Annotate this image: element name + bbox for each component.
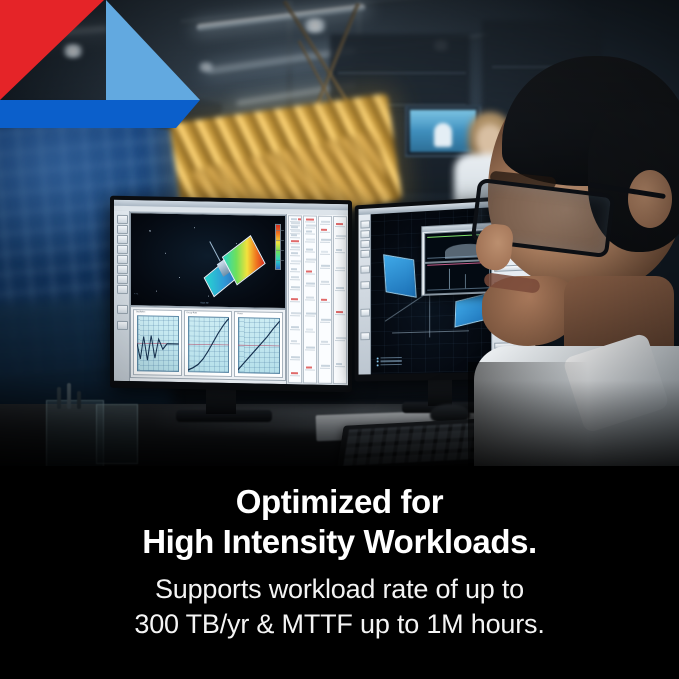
tool-button[interactable] (360, 250, 370, 258)
legend-item (377, 363, 402, 365)
table-row[interactable] (290, 260, 300, 264)
cell (321, 251, 328, 253)
pen (57, 387, 61, 409)
cell (306, 271, 312, 273)
cell (291, 341, 297, 343)
cell (321, 265, 330, 267)
headline-line-1: Optimized for (236, 483, 443, 520)
tool-button[interactable] (117, 245, 128, 254)
table-row[interactable] (335, 249, 345, 253)
data-column[interactable] (333, 216, 347, 384)
simulation-app-window[interactable]: View 3D XYZ Oscillation (114, 200, 348, 385)
data-column[interactable] (318, 216, 332, 384)
plot-series-oscillation (137, 315, 179, 372)
cell (306, 259, 316, 261)
table-row[interactable] (290, 326, 300, 330)
star-speck (156, 291, 157, 292)
legend-dot (377, 357, 379, 359)
tool-button[interactable] (117, 225, 128, 234)
cell (306, 313, 316, 315)
table-row[interactable] (305, 296, 315, 300)
table-row[interactable] (290, 246, 300, 250)
cell (291, 247, 300, 249)
legend-dot (377, 360, 379, 362)
table-row[interactable] (335, 223, 345, 227)
tool-button[interactable] (117, 255, 128, 264)
tool-button[interactable] (360, 309, 370, 317)
table-row[interactable] (305, 366, 315, 370)
table-row[interactable] (320, 221, 330, 225)
tool-button[interactable] (117, 235, 128, 244)
satellite-model[interactable] (193, 225, 284, 307)
table-row[interactable] (290, 340, 300, 344)
cad-left-toolbar[interactable] (359, 214, 371, 374)
star-speck (149, 230, 150, 231)
cell (291, 269, 297, 271)
ear (628, 170, 672, 228)
brand-logo (0, 0, 205, 130)
table-row[interactable] (335, 235, 345, 239)
logo-blue-bar (0, 100, 200, 128)
table-row[interactable] (320, 365, 330, 369)
table-row[interactable] (320, 341, 330, 345)
plot-title: Decay Rate (187, 312, 197, 314)
tool-button[interactable] (117, 215, 128, 224)
3d-viewport[interactable]: View 3D XYZ (130, 212, 286, 309)
table-row[interactable] (305, 270, 315, 274)
table-row[interactable] (290, 312, 300, 316)
cell (291, 227, 298, 229)
cell (306, 225, 316, 227)
table-row[interactable] (290, 252, 300, 256)
monitor-stand-neck-left (206, 388, 236, 414)
waveform-peak (465, 274, 466, 288)
tool-button[interactable] (117, 285, 128, 294)
table-row[interactable] (290, 356, 300, 360)
table-row[interactable] (290, 234, 300, 238)
legend-item (377, 356, 402, 359)
cell (306, 329, 313, 331)
cell (306, 367, 312, 369)
table-row[interactable] (290, 298, 300, 302)
cell (291, 357, 300, 359)
cell (336, 267, 345, 269)
plot-panel[interactable]: Oscillation (133, 309, 182, 376)
tool-button[interactable] (360, 281, 370, 289)
plot-panel[interactable]: Power (234, 311, 283, 378)
table-row[interactable] (320, 239, 330, 243)
table-row[interactable] (320, 229, 330, 233)
data-column[interactable] (303, 215, 317, 383)
tool-button[interactable] (117, 321, 128, 330)
table-row[interactable] (320, 281, 330, 285)
viewport-corner-label: XYZ (134, 293, 138, 295)
cell (291, 313, 301, 315)
plot-panel[interactable]: Decay Rate (184, 310, 233, 377)
tool-button[interactable] (360, 230, 370, 238)
monitor-left[interactable]: View 3D XYZ Oscillation (110, 196, 352, 393)
cell (321, 281, 329, 283)
tool-button[interactable] (360, 220, 370, 228)
cell (291, 231, 301, 233)
cell (291, 327, 299, 329)
cell (306, 239, 315, 241)
data-table-panel[interactable] (286, 214, 348, 385)
cell (306, 219, 314, 221)
cell (336, 287, 344, 289)
cell (291, 373, 298, 375)
pen-holder-second (96, 404, 138, 464)
cell (298, 219, 302, 221)
subheadline: Supports workload rate of up to 300 TB/y… (0, 572, 679, 642)
table-row[interactable] (305, 312, 315, 316)
cell (321, 319, 331, 321)
tool-button[interactable] (117, 305, 128, 314)
tool-palette[interactable] (114, 211, 130, 381)
table-row[interactable] (290, 276, 300, 280)
cell (291, 241, 299, 243)
cad-solar-panel[interactable] (383, 254, 417, 298)
cell (336, 363, 342, 365)
table-row[interactable] (335, 337, 345, 341)
tool-button[interactable] (360, 265, 370, 273)
data-column[interactable] (288, 215, 302, 383)
table-row[interactable] (305, 282, 315, 286)
colorbar-tick (276, 230, 284, 231)
pen (77, 391, 81, 409)
star-speck (165, 252, 166, 253)
table-row[interactable] (290, 372, 300, 376)
headline-line-2: High Intensity Workloads. (142, 523, 537, 560)
cell (291, 235, 297, 237)
cell (321, 365, 330, 367)
table-row[interactable] (290, 286, 300, 290)
legend-dot (377, 364, 379, 366)
table-row[interactable] (335, 311, 345, 315)
subheadline-line-2: 300 TB/yr & MTTF up to 1M hours. (134, 609, 544, 639)
cell (306, 231, 312, 233)
colorbar-tick (276, 240, 284, 241)
star-speck (194, 227, 195, 228)
table-row[interactable] (320, 319, 330, 323)
cell (291, 219, 297, 221)
cell (321, 229, 327, 231)
cell (306, 249, 313, 251)
colorbar-tick (276, 260, 284, 261)
table-row[interactable] (305, 230, 315, 234)
table-row[interactable] (305, 346, 315, 350)
cell (291, 223, 300, 225)
cell (291, 261, 301, 263)
cell (321, 299, 327, 301)
cell (336, 223, 343, 225)
table-row[interactable] (290, 268, 300, 272)
cell (336, 311, 343, 313)
logo-light-blue-triangle (106, 0, 200, 100)
monitor-stand-neck-right (428, 378, 452, 406)
plot-panel-group: Oscillation Decay Rate (130, 306, 286, 381)
cell (336, 249, 342, 251)
foreground-engineer (468, 62, 679, 502)
subheadline-line-1: Supports workload rate of up to (155, 574, 524, 604)
cell (291, 299, 298, 301)
viewport-label: View 3D (200, 302, 208, 304)
logo-red-triangle (0, 0, 104, 100)
cell (321, 221, 330, 223)
cell (291, 277, 299, 279)
plot-title: Power (237, 313, 243, 315)
cell (306, 283, 315, 285)
thermal-colorbar (275, 224, 281, 270)
headline: Optimized for High Intensity Workloads. (0, 466, 679, 562)
tool-button[interactable] (117, 275, 128, 284)
colorbar-tick (276, 250, 284, 251)
cell (291, 253, 298, 255)
table-row[interactable] (305, 248, 315, 252)
legend-bar (381, 364, 402, 366)
table-row[interactable] (305, 258, 315, 262)
pen (67, 383, 71, 409)
legend-item (377, 360, 402, 363)
marketing-text-block: Optimized for High Intensity Workloads. … (0, 466, 679, 679)
cell (336, 337, 346, 339)
cell (321, 341, 328, 343)
cell (321, 239, 331, 241)
cell (291, 287, 300, 289)
legend-bar (381, 357, 402, 359)
product-marketing-banner: View 3D XYZ Oscillation (0, 0, 679, 679)
table-row[interactable] (320, 299, 330, 303)
table-row[interactable] (320, 251, 330, 255)
plot-series-decay (188, 316, 230, 373)
table-row[interactable] (305, 238, 315, 242)
table-row[interactable] (320, 265, 330, 269)
satellite-boom (209, 241, 220, 261)
plot-series-power (238, 317, 280, 374)
table-row[interactable] (305, 328, 315, 332)
brand-logo-mark (0, 0, 205, 130)
star-speck (179, 277, 181, 279)
cell (306, 297, 314, 299)
waveform-peak (449, 269, 450, 289)
rack-shelf-line (338, 72, 466, 74)
monitor-left-screen[interactable]: View 3D XYZ Oscillation (114, 200, 348, 385)
star-speck (208, 296, 209, 297)
table-row[interactable] (305, 224, 315, 228)
table-row[interactable] (335, 363, 345, 367)
cad-legend (377, 356, 402, 367)
tool-button[interactable] (360, 240, 370, 248)
tool-button[interactable] (360, 332, 370, 340)
tool-button[interactable] (117, 265, 128, 274)
cell (336, 235, 346, 237)
table-row[interactable] (335, 287, 345, 291)
table-row[interactable] (290, 240, 300, 244)
table-row[interactable] (305, 218, 315, 222)
table-row[interactable] (335, 267, 345, 271)
cell (306, 347, 315, 349)
legend-bar (381, 360, 402, 362)
plot-title: Oscillation (136, 311, 145, 313)
